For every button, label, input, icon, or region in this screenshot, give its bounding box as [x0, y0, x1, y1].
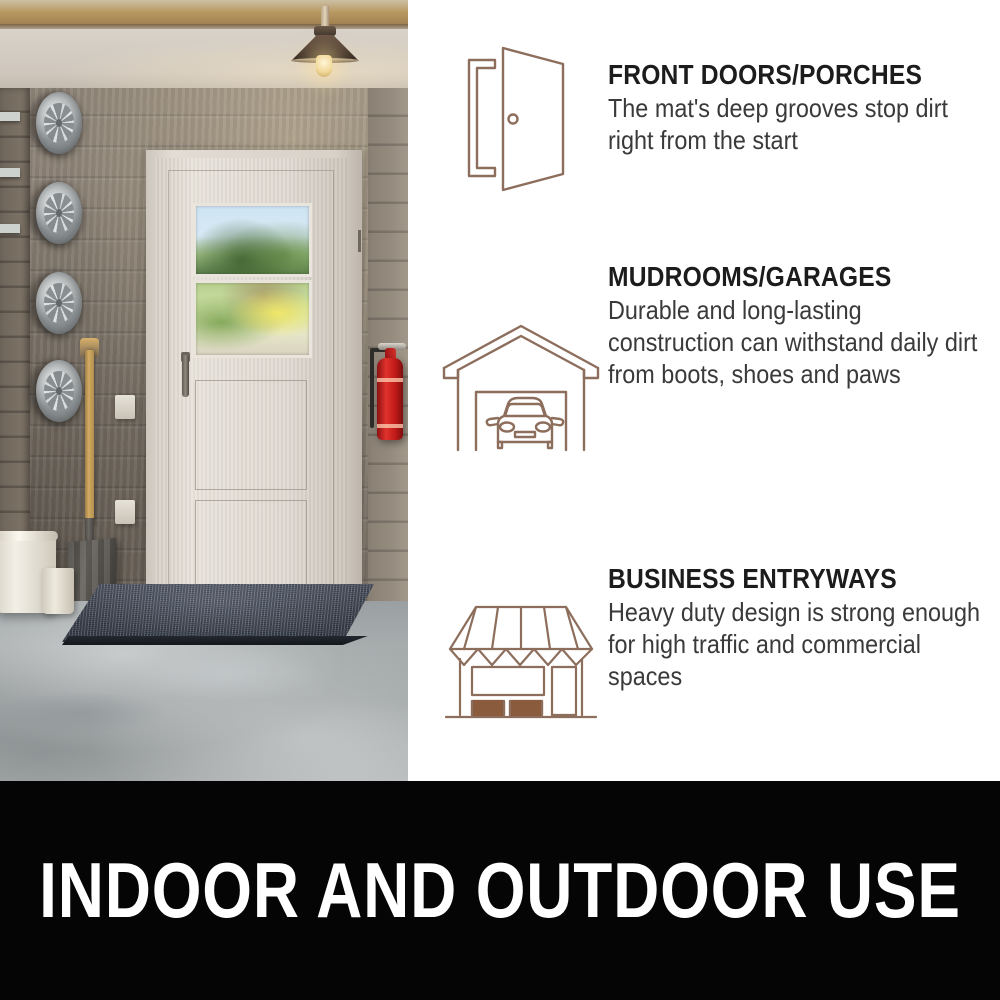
feature-text: BUSINESS ENTRYWAYS Heavy duty design is … — [608, 560, 993, 692]
feature-title: MUDROOMS/GARAGES — [608, 262, 947, 292]
door-handle — [182, 355, 189, 397]
feature-text: FRONT DOORS/PORCHES The mat's deep groov… — [608, 38, 993, 157]
ceiling-beam — [0, 0, 408, 26]
door-window-upper — [193, 203, 312, 277]
infographic-root: FRONT DOORS/PORCHES The mat's deep groov… — [0, 0, 1000, 1000]
feature-body: Durable and long-lasting construction ca… — [608, 295, 993, 390]
door-mat — [62, 584, 374, 642]
door-mat-edge — [62, 636, 374, 645]
feature-body: Heavy duty design is strong enough for h… — [608, 597, 993, 692]
feature-title: BUSINESS ENTRYWAYS — [608, 564, 947, 594]
wall-outlet — [115, 500, 135, 524]
feature-title: FRONT DOORS/PORCHES — [608, 60, 947, 90]
door-window-lower — [193, 280, 312, 358]
wall-shelf — [0, 168, 20, 177]
small-bucket — [42, 568, 74, 614]
feature-mudrooms-garages: MUDROOMS/GARAGES Durable and long-lastin… — [433, 262, 993, 475]
features-panel: FRONT DOORS/PORCHES The mat's deep groov… — [408, 0, 1000, 781]
banner-headline: INDOOR AND OUTDOOR USE — [90, 781, 910, 1000]
feature-body: The mat's deep grooves stop dirt right f… — [608, 93, 993, 156]
garage-with-car-icon — [433, 262, 608, 475]
feature-text: MUDROOMS/GARAGES Durable and long-lastin… — [608, 262, 993, 390]
feature-business-entryways: BUSINESS ENTRYWAYS Heavy duty design is … — [433, 560, 993, 738]
open-door-icon — [433, 38, 608, 198]
wall-shelf — [0, 112, 20, 121]
wall-shelf — [0, 224, 20, 233]
storefront-icon — [433, 560, 608, 738]
feature-front-doors: FRONT DOORS/PORCHES The mat's deep groov… — [433, 38, 993, 198]
product-lifestyle-photo — [0, 0, 408, 781]
bottom-banner: INDOOR AND OUTDOOR USE — [0, 781, 1000, 1000]
corner-wall — [0, 88, 30, 608]
wall-outlet — [115, 395, 135, 419]
